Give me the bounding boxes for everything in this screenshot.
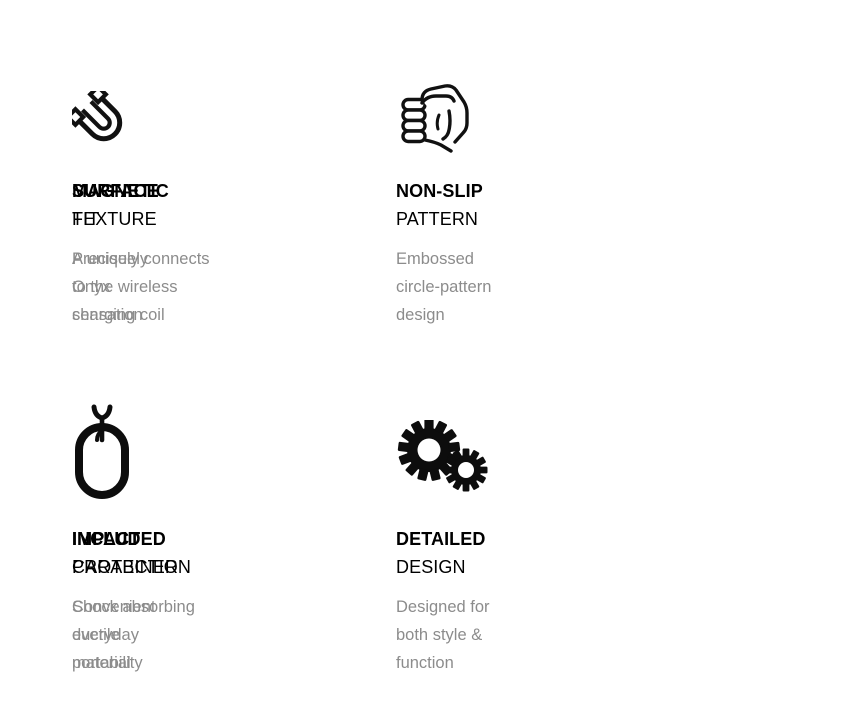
grip-hand-icon [396, 58, 516, 153]
feature-body-line: both style & [396, 621, 596, 649]
feature-body-line: Designed for [396, 593, 596, 621]
feature-heading-light: DESIGN [396, 553, 626, 581]
feature-heading-light: CARABINER [72, 553, 302, 581]
feature-body-line: design [396, 301, 596, 329]
feature-heading: DETAILED DESIGN [396, 525, 626, 581]
feature-body-line: portability [72, 649, 272, 677]
feature-heading-strong: SURFACE [72, 177, 302, 205]
feature-body-line: circle-pattern [396, 273, 596, 301]
feature-heading-light: PATTERN [396, 205, 626, 233]
feature-heading: INCLUDED CARABINER [72, 525, 302, 581]
feature-body: Embossed circle-pattern design [396, 245, 596, 329]
feature-body: A uniquely Onyx sensation [72, 245, 272, 329]
feature-body: Convenient everyday portability [72, 593, 272, 677]
feature-heading-strong: DETAILED [396, 525, 626, 553]
feature-grid: MAGNETIC FIT Precisely connects to the w… [0, 0, 860, 720]
feature-body-line: Embossed [396, 245, 596, 273]
feature-body-line: sensation [72, 301, 272, 329]
feature-body-line: everyday [72, 621, 272, 649]
feature-body-line: function [396, 649, 596, 677]
carabiner-icon [72, 390, 192, 500]
feature-card-non-slip-pattern: NON-SLIP PATTERN Embossed circle-pattern… [396, 0, 860, 360]
feature-card-detailed-design: DETAILED DESIGN Designed for both style … [396, 360, 860, 720]
feature-heading-strong: INCLUDED [72, 525, 302, 553]
feature-body-line: Convenient [72, 593, 272, 621]
feature-heading-light: TEXTURE [72, 205, 302, 233]
feature-row-top: MAGNETIC FIT Precisely connects to the w… [0, 0, 860, 360]
feature-heading: NON-SLIP PATTERN [396, 177, 626, 233]
gears-icon [396, 390, 516, 500]
feature-body-line: Onyx [72, 273, 272, 301]
feature-heading-strong: NON-SLIP [396, 177, 626, 205]
feature-body: Designed for both style & function [396, 593, 596, 677]
feature-heading: SURFACE TEXTURE [72, 177, 302, 233]
feature-row-bottom: IMPACT PROTECTION Shock absorbing ductil… [0, 360, 860, 720]
feature-body-line: A uniquely [72, 245, 272, 273]
